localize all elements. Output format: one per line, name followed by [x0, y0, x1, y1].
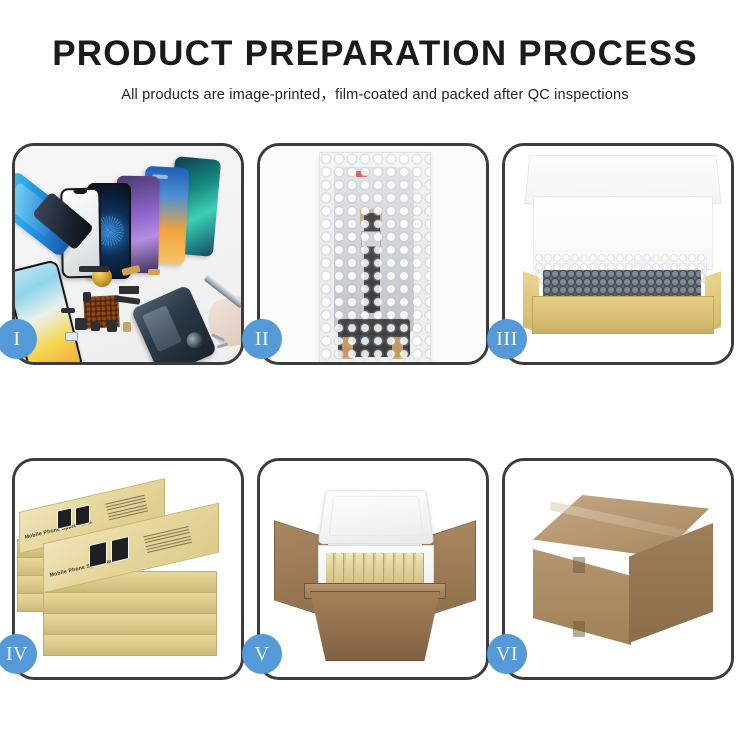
box-phone-print-back-1	[57, 507, 72, 529]
sim-card-icon	[65, 332, 78, 341]
product-preparation-infographic: PRODUCT PREPARATION PROCESS All products…	[0, 0, 750, 750]
stack-box-r3	[43, 613, 217, 635]
connector-strip-icon	[119, 286, 139, 294]
bubble-wrap-scene	[260, 146, 486, 362]
driver-ic-icon	[361, 231, 381, 247]
sim-tray-icon	[91, 322, 100, 331]
step-panel-vi: VI	[502, 458, 734, 680]
box-phone-print-front-2	[111, 536, 129, 563]
step-badge-vi: VI	[487, 634, 527, 674]
box-phone-print-back-2	[75, 504, 90, 526]
carton-open-scene	[260, 461, 486, 677]
open-inner-box-scene	[505, 146, 731, 362]
step-badge-ii: II	[242, 319, 282, 359]
gold-contact-icon	[123, 322, 131, 332]
step-image-vi	[505, 461, 731, 677]
camera-module-icon	[75, 318, 87, 330]
step-image-ii	[260, 146, 486, 362]
step-panel-ii: II	[257, 143, 489, 365]
step-image-v	[260, 461, 486, 677]
step-image-i	[15, 146, 241, 362]
step-panel-v: V	[257, 458, 489, 680]
stacked-boxes-scene: Mobile Phone Spare Parts Mobile Phone Sp…	[15, 461, 241, 677]
carton-body-icon	[310, 591, 440, 661]
page-header: PRODUCT PREPARATION PROCESS All products…	[0, 34, 750, 104]
foam-box-lid-icon	[318, 490, 435, 544]
step-image-iii	[505, 146, 731, 362]
page-title: PRODUCT PREPARATION PROCESS	[0, 34, 750, 74]
antenna-strip-icon	[61, 308, 75, 313]
earpiece-mesh-icon	[79, 266, 109, 272]
carton-tab-top-icon	[573, 557, 585, 573]
gold-pad-right-icon	[392, 337, 403, 359]
step-badge-v: V	[242, 634, 282, 674]
carton-tab-bottom-icon	[573, 621, 585, 637]
step-image-iv: Mobile Phone Spare Parts Mobile Phone Sp…	[15, 461, 241, 677]
stack-box-r2	[43, 592, 217, 614]
phone-back-housing-icon	[131, 285, 218, 362]
page-subtitle: All products are image-printed，film-coat…	[0, 83, 750, 104]
red-sticker-icon	[356, 171, 367, 177]
bubble-wrap-bag-icon	[319, 152, 431, 362]
phone-parts-scene	[15, 146, 241, 362]
screen-flex-cable-icon	[364, 213, 380, 313]
sealed-carton-scene	[505, 461, 731, 677]
box-phone-print-front-1	[89, 541, 107, 568]
box-tray-front-icon	[532, 296, 714, 334]
gold-pad-left-icon	[342, 337, 353, 359]
flex-cable-2-icon	[148, 269, 160, 275]
step-panel-iv: Mobile Phone Spare Parts Mobile Phone Sp…	[12, 458, 244, 680]
process-steps-grid: I II	[12, 143, 738, 680]
vibrator-icon	[107, 320, 117, 332]
step-badge-iii: III	[487, 319, 527, 359]
small-chip-1-icon	[83, 292, 91, 302]
step-panel-i: I	[12, 143, 244, 365]
step-panel-iii: III	[502, 143, 734, 365]
stack-box-r4	[43, 634, 217, 656]
